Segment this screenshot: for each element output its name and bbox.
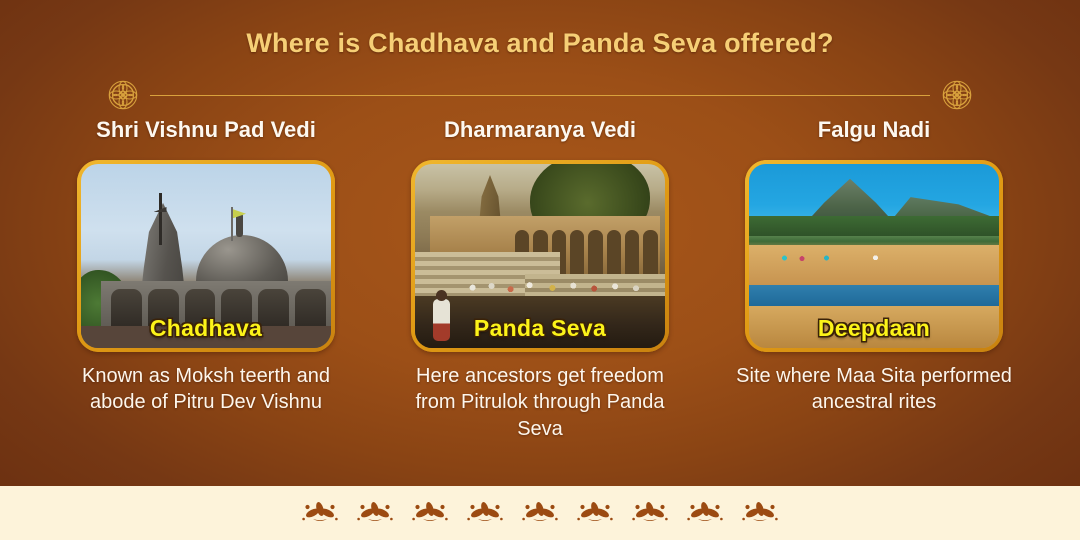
column-heading: Dharmaranya Vedi	[444, 118, 636, 148]
vishnupad-temple-photo: Chadhava	[81, 164, 331, 348]
column-falgu-nadi: Falgu Nadi Deepdaan Site where Maa Sita …	[724, 118, 1024, 416]
column-description: Here ancestors get freedom from Pitrulok…	[401, 363, 679, 442]
floral-petal-motif-icon	[577, 500, 613, 526]
page-title: Where is Chadhava and Panda Seva offered…	[0, 28, 1080, 59]
divider-rule	[150, 95, 930, 96]
rosette-ornament-left-icon	[104, 76, 142, 114]
floral-petal-motif-icon	[632, 500, 668, 526]
floral-petal-motif-icon	[522, 500, 558, 526]
sandbar-shape	[749, 245, 999, 285]
floral-petal-motif-icon	[742, 500, 778, 526]
photo-caption: Panda Seva	[415, 315, 665, 342]
floral-petal-motif-icon	[687, 500, 723, 526]
bottom-decorative-band	[0, 486, 1080, 540]
photo-caption: Deepdaan	[749, 315, 999, 342]
rosette-ornament-right-icon	[938, 76, 976, 114]
dharmaranya-ghat-photo: Panda Seva	[415, 164, 665, 348]
column-heading: Shri Vishnu Pad Vedi	[96, 118, 316, 148]
column-vishnu-pad-vedi: Shri Vishnu Pad Vedi Chadhava Known as M	[56, 118, 356, 416]
photo-card[interactable]: Deepdaan	[745, 160, 1003, 352]
photo-card[interactable]: Chadhava	[77, 160, 335, 352]
floral-petal-motif-icon	[302, 500, 338, 526]
river-channel-shape	[749, 285, 999, 305]
floral-petal-motif-icon	[412, 500, 448, 526]
divider	[104, 76, 976, 114]
floral-petal-motif-icon	[467, 500, 503, 526]
column-dharmaranya-vedi: Dharmaranya Vedi Panda Seva H	[390, 118, 690, 442]
falgu-river-photo: Deepdaan	[749, 164, 999, 348]
pilgrim-crowd-shape	[465, 278, 655, 294]
temple-spire-shape	[159, 193, 162, 245]
column-heading: Falgu Nadi	[818, 118, 930, 148]
photo-card[interactable]: Panda Seva	[411, 160, 669, 352]
pilgrim-figures-shape	[774, 252, 949, 264]
poster-canvas: Where is Chadhava and Panda Seva offered…	[0, 0, 1080, 540]
column-description: Site where Maa Sita performed ancestral …	[735, 363, 1013, 416]
temple-flag-shape	[231, 207, 233, 241]
motif-row	[0, 486, 1080, 540]
column-description: Known as Moksh teerth and abode of Pitru…	[67, 363, 345, 416]
floral-petal-motif-icon	[357, 500, 393, 526]
photo-caption: Chadhava	[81, 315, 331, 342]
column-group: Shri Vishnu Pad Vedi Chadhava Known as M	[0, 118, 1080, 468]
treeline-shape	[749, 216, 999, 236]
